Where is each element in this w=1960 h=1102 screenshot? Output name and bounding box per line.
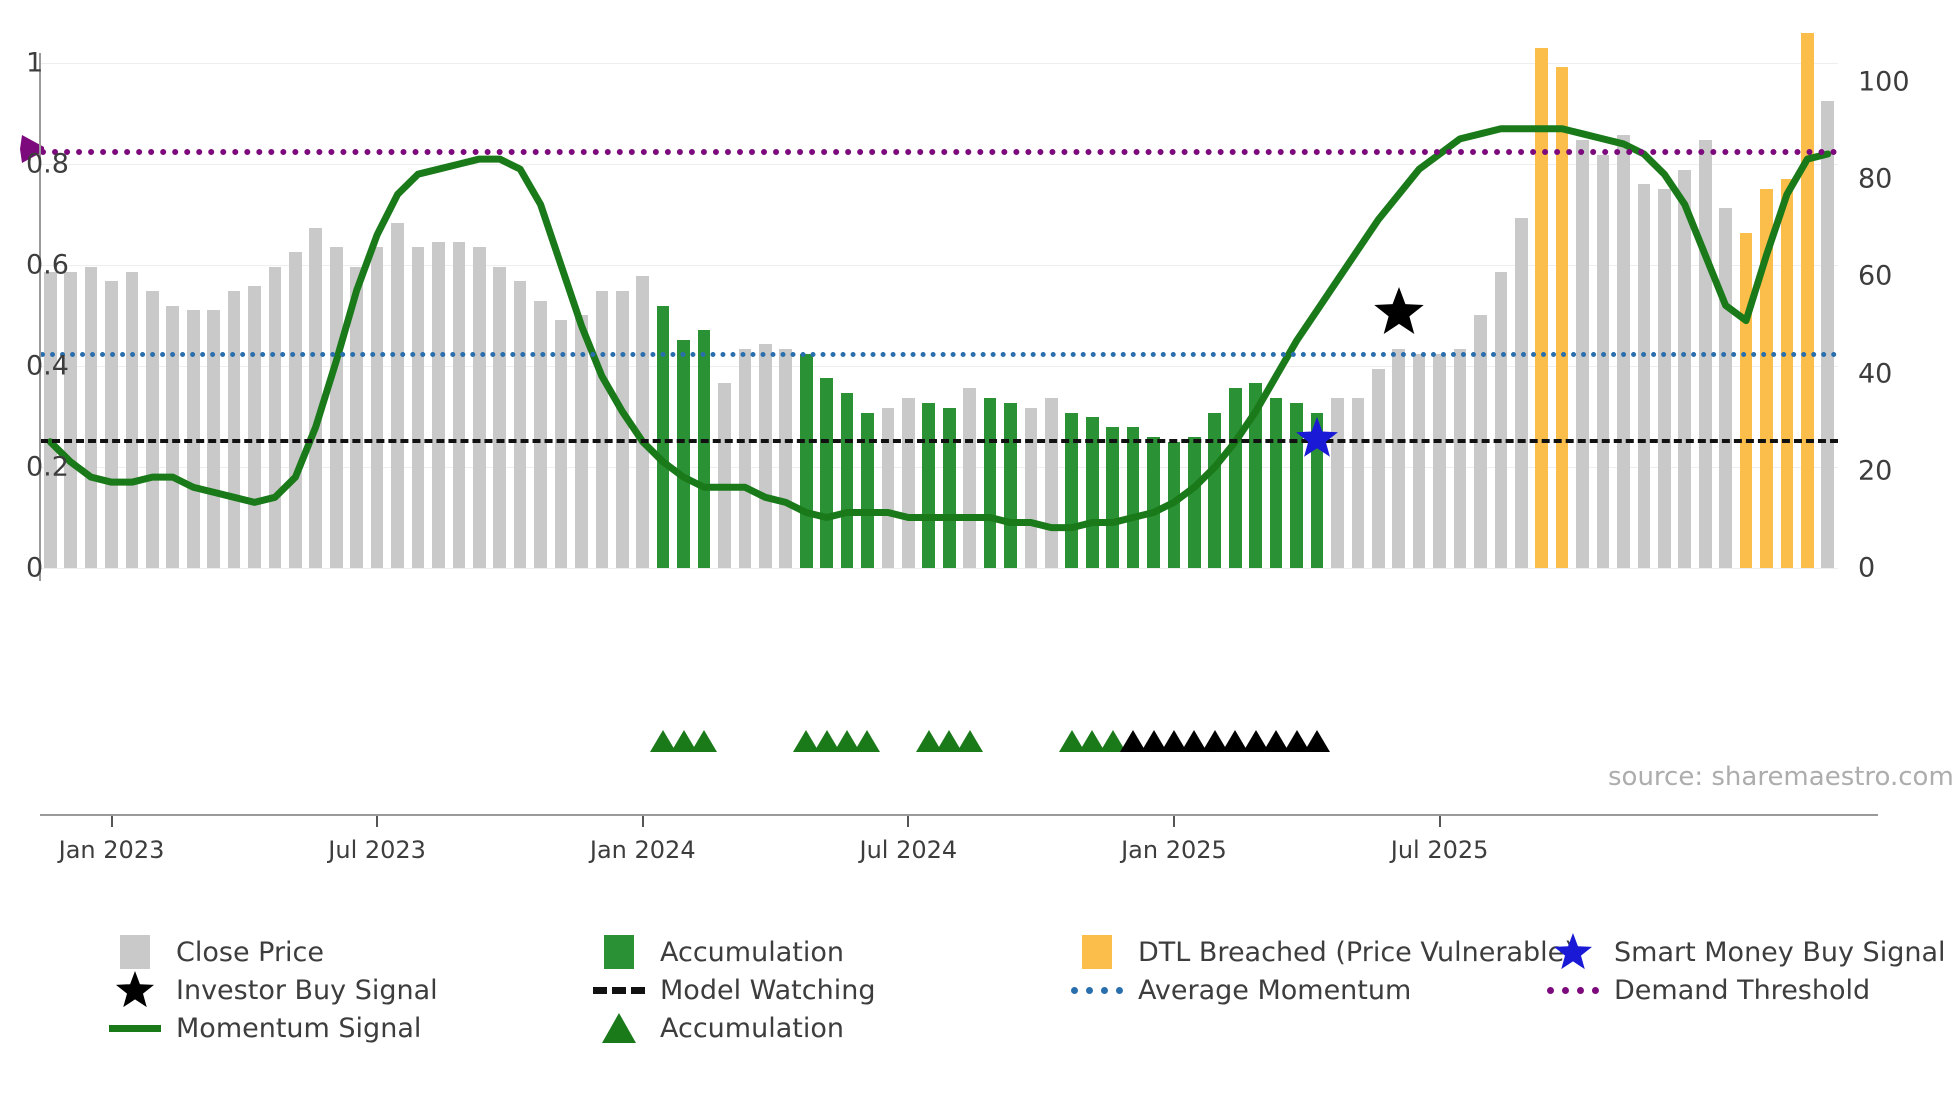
source-note: source: sharemaestro.com: [1608, 762, 1954, 792]
legend-swatch-star: [1546, 932, 1600, 972]
x-axis-tick-mark: [1173, 816, 1175, 827]
legend-item-label: Investor Buy Signal: [176, 975, 438, 1006]
dotted-line-icon: [1547, 987, 1599, 994]
legend-item-label: DTL Breached (Price Vulnerable): [1138, 937, 1575, 968]
y-axis-right-tick-label: 60: [1858, 261, 1892, 292]
legend-item-close-price[interactable]: Close Price: [108, 932, 324, 972]
smart-money-buy-signal-star: [1291, 413, 1343, 465]
x-axis-tick-mark: [376, 816, 378, 827]
legend-item-smart-money-buy-signal[interactable]: Smart Money Buy Signal: [1546, 932, 1946, 972]
accumulation-triangle: [854, 730, 880, 752]
solid-line-icon: [109, 1025, 161, 1032]
legend-item-demand-threshold[interactable]: Demand Threshold: [1546, 970, 1870, 1010]
x-axis-tick-label: Jul 2023: [328, 836, 426, 864]
model-watching-line: [40, 439, 1838, 443]
x-axis-tick-label: Jul 2025: [1391, 836, 1489, 864]
y-axis-right-tick-label: 0: [1858, 553, 1875, 584]
star-icon: [113, 969, 157, 1011]
y-axis-right-tick-label: 40: [1858, 358, 1892, 389]
x-axis-tick-label: Jan 2023: [59, 836, 165, 864]
x-axis-tick-mark: [111, 816, 113, 827]
legend-item-average-momentum[interactable]: Average Momentum: [1070, 970, 1411, 1010]
y-axis-right-tick-label: 80: [1858, 164, 1892, 195]
legend-item-momentum-signal[interactable]: Momentum Signal: [108, 1008, 421, 1048]
y-axis-right-tick-label: 100: [1858, 67, 1910, 98]
legend-swatch-square: [1070, 932, 1124, 972]
star-icon: [1551, 931, 1595, 973]
x-axis-tick-label: Jul 2024: [860, 836, 958, 864]
legend-swatch-square: [592, 932, 646, 972]
legend-item-label: Model Watching: [660, 975, 875, 1006]
chart-root: 00.20.40.60.81020406080100Jan 2023Jul 20…: [0, 0, 1960, 1102]
legend-item-label: Accumulation: [660, 1013, 844, 1044]
momentum-signal-line: [40, 48, 1838, 568]
plot-area: [40, 48, 1838, 568]
legend-swatch-line: [108, 1008, 162, 1048]
triangle-icon: [602, 1013, 636, 1043]
square-icon: [120, 935, 150, 969]
y-axis-right-tick-label: 20: [1858, 455, 1892, 486]
x-axis-tick-label: Jan 2024: [590, 836, 696, 864]
demand-threshold-line: [40, 149, 1838, 155]
legend-item-accumulation-triangle[interactable]: Accumulation: [592, 1008, 844, 1048]
gridline: [40, 568, 1838, 569]
legend-swatch-square: [108, 932, 162, 972]
investor-signal-triangle: [1304, 730, 1330, 752]
square-icon: [604, 935, 634, 969]
accumulation-triangle: [691, 730, 717, 752]
dotted-line-icon: [1071, 987, 1123, 994]
legend-item-label: Smart Money Buy Signal: [1614, 937, 1946, 968]
legend-item-label: Close Price: [176, 937, 324, 968]
legend-item-label: Momentum Signal: [176, 1013, 421, 1044]
average-momentum-line: [40, 352, 1838, 357]
legend-swatch-triangle: [592, 1008, 646, 1048]
square-icon: [1082, 935, 1112, 969]
dashed-line-icon: [593, 987, 645, 994]
legend-swatch-dotted: [1070, 970, 1124, 1010]
legend-swatch-dashed: [592, 970, 646, 1010]
legend-item-model-watching[interactable]: Model Watching: [592, 970, 875, 1010]
x-axis-tick-mark: [642, 816, 644, 827]
y-axis-left-line: [39, 53, 41, 581]
legend-item-label: Average Momentum: [1138, 975, 1411, 1006]
legend-item-investor-buy-signal[interactable]: Investor Buy Signal: [108, 970, 438, 1010]
legend-item-accumulation-bar[interactable]: Accumulation: [592, 932, 844, 972]
legend-item-label: Demand Threshold: [1614, 975, 1870, 1006]
accumulation-triangle: [957, 730, 983, 752]
legend-swatch-dotted: [1546, 970, 1600, 1010]
legend-item-dtl-breached[interactable]: DTL Breached (Price Vulnerable): [1070, 932, 1575, 972]
investor-buy-signal-star: [1369, 283, 1429, 343]
x-axis-tick-mark: [907, 816, 909, 827]
legend-swatch-star: [108, 970, 162, 1010]
x-axis-tick-mark: [1439, 816, 1441, 827]
x-axis-tick-label: Jan 2025: [1121, 836, 1227, 864]
x-axis-line: [40, 814, 1878, 816]
legend-item-label: Accumulation: [660, 937, 844, 968]
